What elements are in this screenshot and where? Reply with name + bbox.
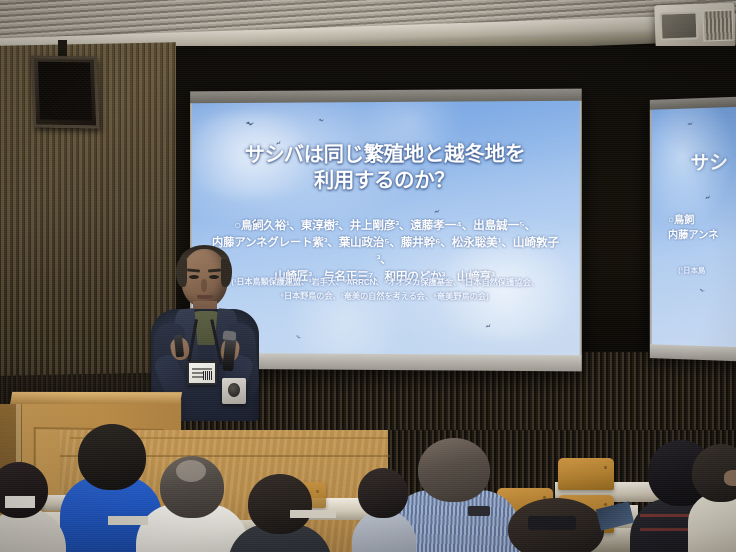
hawk-silhouette-icon xyxy=(318,119,324,122)
loudspeaker-grille-icon xyxy=(38,62,92,121)
audience-member xyxy=(358,468,410,552)
presenter-hair-left xyxy=(176,259,187,287)
presenter-eye-left xyxy=(189,275,199,279)
lectern-top-surface xyxy=(10,392,182,404)
author-line-1: ○鳥飼久裕¹、東淳樹²、井上剛彦³、遠藤孝一⁴、出島誠一⁵、 xyxy=(207,217,564,234)
hawk-silhouette-icon xyxy=(699,288,705,293)
presenter-hair-right xyxy=(221,259,232,287)
secondary-slide-authors: ○鳥飼 内藤アンネ xyxy=(668,212,736,244)
papers-on-desk xyxy=(108,516,148,525)
badge-code-icon xyxy=(203,371,212,380)
presenter-nose xyxy=(201,279,207,292)
slide-title: サシバは同じ繁殖地と越冬地を 利用するのか？ xyxy=(207,142,564,194)
bag-on-desk xyxy=(528,516,576,530)
secondary-projection-screen: サシ ○鳥飼 内藤アンネ (¹日本鳥 xyxy=(650,96,736,362)
audience-member-bald-spot xyxy=(176,460,206,482)
projector-lens-icon xyxy=(660,11,699,40)
presenter-mouth xyxy=(197,295,213,299)
hawk-silhouette-icon xyxy=(687,122,693,127)
secondary-slide-affiliations: (¹日本鳥 xyxy=(678,265,736,277)
counter-device-lens-icon xyxy=(228,383,240,397)
audience-member xyxy=(690,448,736,552)
papers-on-desk xyxy=(290,510,336,518)
microphone-head-icon xyxy=(223,330,237,340)
hawk-silhouette-icon xyxy=(705,195,712,201)
papers-on-desk xyxy=(5,496,35,508)
secondary-author-line-2: 内藤アンネ xyxy=(668,228,736,244)
audience-chair xyxy=(558,458,614,490)
audience-member-head xyxy=(358,468,408,518)
name-badge xyxy=(187,361,217,385)
secondary-slide-content: サシ ○鳥飼 内藤アンネ (¹日本鳥 xyxy=(652,106,736,347)
secondary-slide-title: サシ xyxy=(691,147,736,176)
audience-member-hand xyxy=(724,470,736,486)
presenter-eye-right xyxy=(209,275,219,279)
projector-grill xyxy=(702,9,733,41)
secondary-author-line-1: ○鳥飼 xyxy=(668,212,736,228)
hawk-silhouette-icon xyxy=(434,209,441,215)
audience-member-head xyxy=(0,462,48,518)
audience-member-head xyxy=(418,438,490,502)
lecture-hall-photo: サシバは同じ繁殖地と越冬地を 利用するのか？ ○鳥飼久裕¹、東淳樹²、井上剛彦³… xyxy=(0,0,736,552)
slide-title-line-2: 利用するのか？ xyxy=(207,167,564,193)
smartphone-on-desk xyxy=(468,506,490,516)
audience-member-head xyxy=(248,474,312,534)
slide-title-line-1: サシバは同じ繁殖地と越冬地を xyxy=(207,142,564,169)
